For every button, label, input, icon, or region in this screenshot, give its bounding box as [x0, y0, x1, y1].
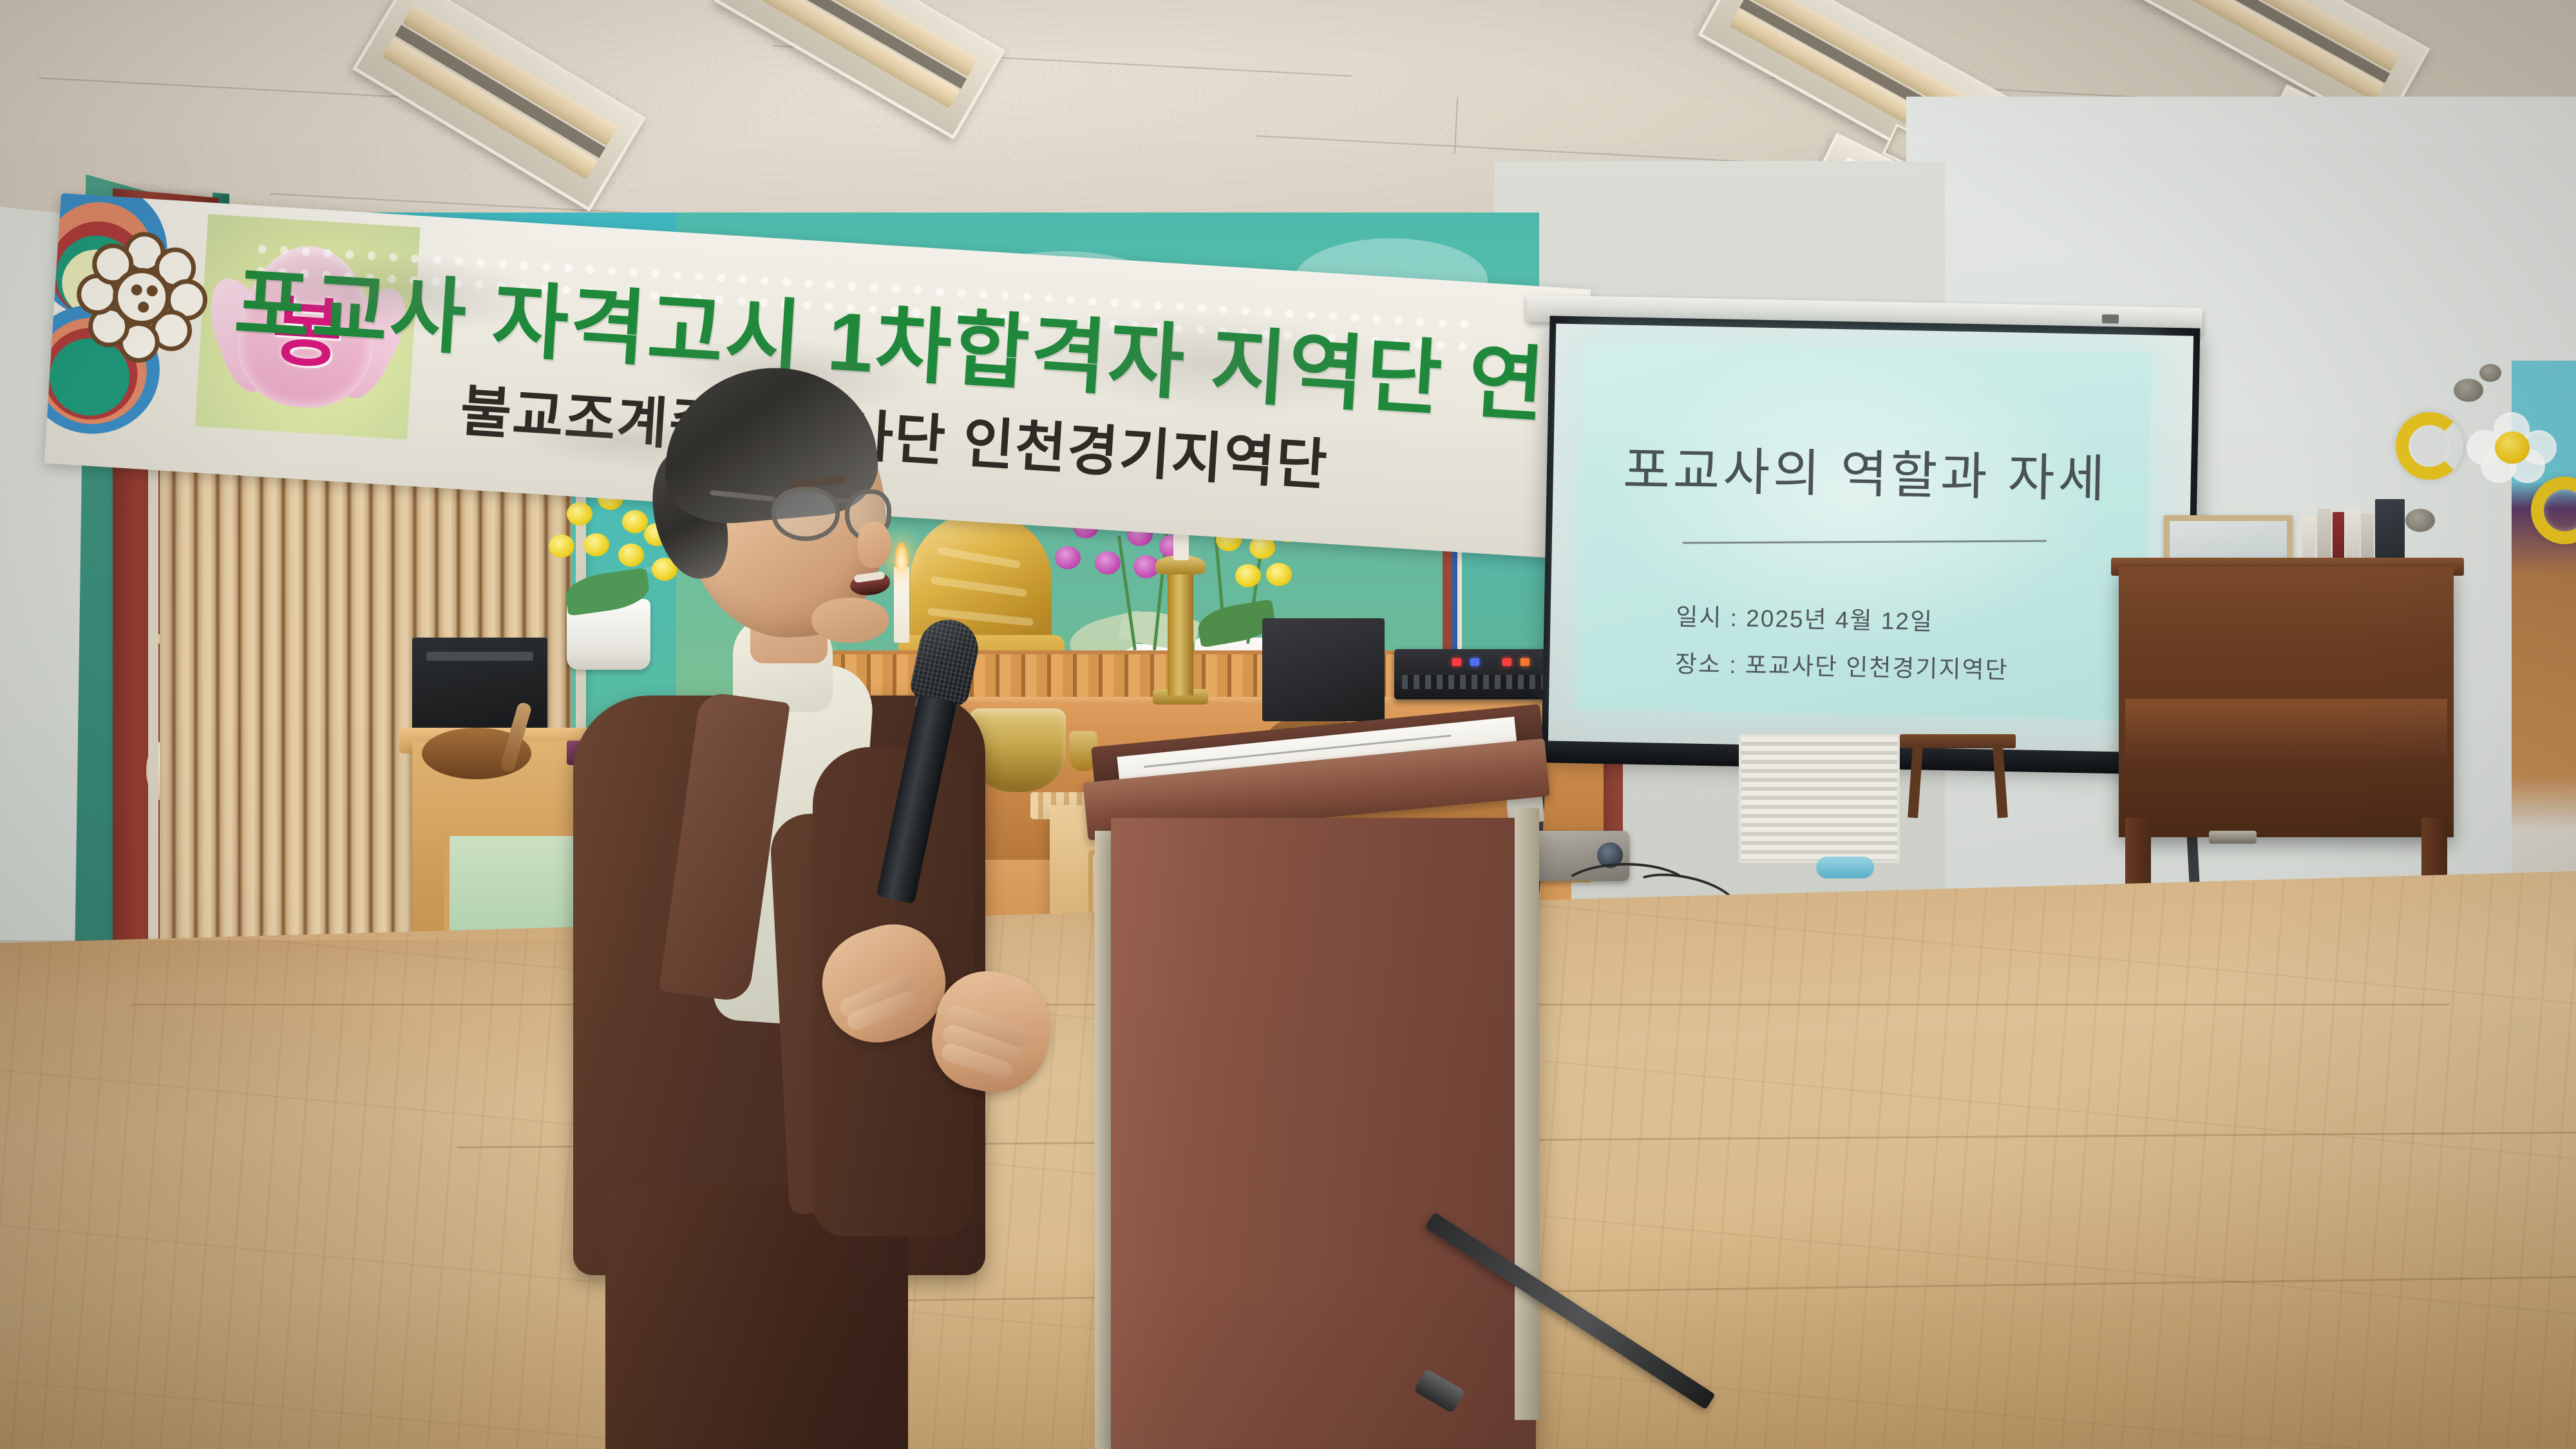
piano-fallboard — [2125, 699, 2447, 760]
wall-dot-sticker-icon — [2479, 364, 2501, 382]
wooden-lectern — [1111, 818, 1536, 1449]
white-daisy-balloon-icon — [2467, 412, 2557, 483]
wooden-stool — [1900, 734, 2016, 748]
gold-swirl-balloon-icon — [2396, 412, 2463, 480]
wall-dot-sticker-icon — [2405, 509, 2435, 532]
photo-scene: 봉 포교사 자격고시 1차합격자 지역단 연수교육 불교조계종 포교사단 인천경… — [0, 0, 2576, 1449]
slide-place-line: 장소 : 포교사단 인천경기지역단 — [1675, 644, 2009, 685]
piano-pedals — [2209, 831, 2257, 844]
floor-radiator-vent — [1739, 734, 1900, 863]
candlestick — [1168, 567, 1193, 696]
chin — [811, 598, 889, 643]
slide-title: 포교사의 역할과 자세 — [1582, 428, 2150, 513]
wall-dot-sticker-icon — [2454, 379, 2483, 402]
screen-case-label — [2102, 314, 2119, 323]
nose — [858, 522, 891, 568]
eyeglasses-left-lens-icon — [772, 487, 840, 541]
lecturer-person — [567, 361, 1069, 1449]
podium-right-edge — [1515, 808, 1539, 1420]
slide-date-line: 일시 : 2025년 4월 12일 — [1676, 597, 1934, 637]
pa-speaker — [1262, 618, 1385, 721]
presentation-slide: 포교사의 역할과 자세 일시 : 2025년 4월 12일 장소 : 포교사단 … — [1578, 343, 2152, 721]
blue-floor-item — [1816, 857, 1874, 878]
piano-leg — [2125, 818, 2151, 889]
